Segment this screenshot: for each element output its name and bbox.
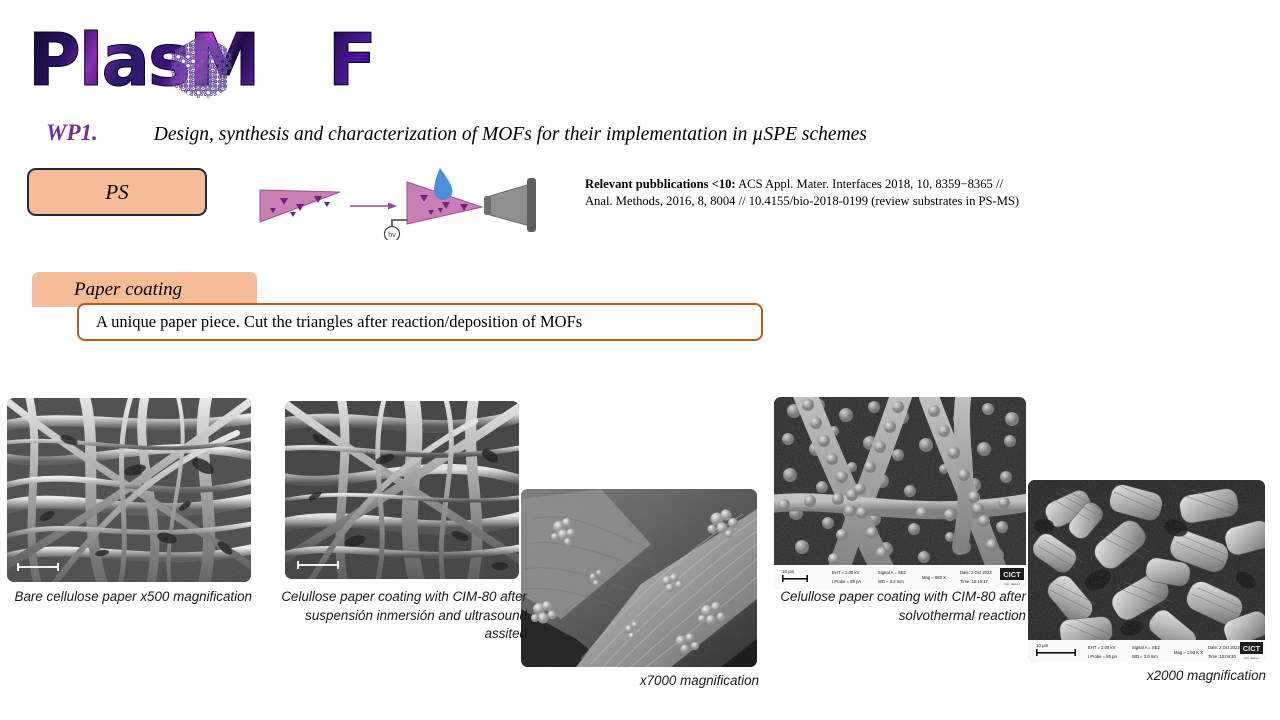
svg-text:Univ. Jaume I: Univ. Jaume I bbox=[1244, 656, 1260, 660]
logo-text-after: F bbox=[328, 18, 375, 102]
sem-caption-3: x7000 magnification bbox=[520, 672, 759, 691]
paper-spray-ionization-diagram: hv bbox=[252, 160, 552, 240]
solvent-droplet-icon bbox=[434, 168, 452, 200]
publications-line-2: Anal. Methods, 2016, 8, 8004 // 10.4155/… bbox=[585, 194, 1019, 208]
sem-caption-2: Celullose paper coating with CIM-80 afte… bbox=[265, 588, 527, 644]
page-title: Design, synthesis and characterization o… bbox=[154, 124, 867, 145]
svg-text:EHT = 2.00 kV: EHT = 2.00 kV bbox=[1088, 645, 1115, 650]
high-voltage-source: hv bbox=[385, 220, 409, 240]
relevant-publications: Relevant pubblications <10: ACS Appl. Ma… bbox=[585, 176, 1155, 210]
ps-section-badge: PS bbox=[27, 168, 207, 216]
paper-triangle-left bbox=[260, 190, 340, 222]
svg-text:WD = 3.9 mm: WD = 3.9 mm bbox=[1132, 654, 1158, 659]
svg-text:CICT: CICT bbox=[1243, 644, 1261, 653]
svg-text:Date: 2 Oct 2023: Date: 2 Oct 2023 bbox=[1208, 645, 1240, 650]
svg-text:hv: hv bbox=[388, 232, 396, 239]
svg-text:WD = 3.2 mm: WD = 3.2 mm bbox=[878, 579, 904, 584]
svg-text:EHT = 2.00 kV: EHT = 2.00 kV bbox=[832, 570, 859, 575]
paper-coating-tab-label: Paper coating bbox=[74, 279, 182, 301]
sem-caption-1: Bare cellulose paper x500 magnification bbox=[12, 588, 252, 607]
publications-heading: Relevant pubblications <10: bbox=[585, 177, 736, 191]
svg-text:I Probe = 85 pA: I Probe = 85 pA bbox=[1088, 654, 1117, 659]
paper-coating-text: A unique paper piece. Cut the triangles … bbox=[96, 312, 582, 332]
sem-x2000-crystals: 10 µm EHT = 2.00 kV I Probe = 85 pA Sign… bbox=[1028, 480, 1265, 662]
mass-spectrometer-inlet bbox=[484, 178, 536, 232]
ps-badge-label: PS bbox=[105, 180, 128, 205]
paper-triangle-spray bbox=[407, 168, 482, 224]
process-arrow bbox=[350, 203, 397, 210]
svg-text:10 µm: 10 µm bbox=[1036, 643, 1049, 648]
publications-line-1: ACS Appl. Mater. Interfaces 2018, 10, 83… bbox=[736, 177, 1003, 191]
plasmof-logo: PlasM F bbox=[28, 14, 328, 106]
svg-text:Signal A = SE2: Signal A = SE2 bbox=[878, 570, 906, 575]
paper-coating-callout: A unique paper piece. Cut the triangles … bbox=[77, 303, 763, 341]
wp-label: WP1. bbox=[46, 120, 98, 145]
svg-text:CICT: CICT bbox=[1003, 570, 1021, 579]
svg-text:Mag = 1.93 K X: Mag = 1.93 K X bbox=[1174, 650, 1203, 655]
sem-x7000-fiber bbox=[521, 489, 757, 667]
sem-caption-5: x2000 magnification bbox=[1020, 667, 1266, 686]
work-package-header: WP1. Design, synthesis and characterizat… bbox=[46, 120, 1146, 150]
sem-databar: 10 µm EHT = 2.00 kV I Probe = 85 pA Sign… bbox=[774, 565, 1026, 589]
sem-caption-4: Celullose paper coating with CIM-80 afte… bbox=[760, 588, 1026, 625]
svg-text:Time :10:04:30: Time :10:04:30 bbox=[1208, 654, 1236, 659]
sem-cim80-solvothermal: 10 µm EHT = 2.00 kV I Probe = 85 pA Sign… bbox=[774, 397, 1026, 589]
mof-framework-icon bbox=[165, 32, 241, 104]
svg-text:10 µm: 10 µm bbox=[782, 569, 795, 574]
sem-databar: 10 µm EHT = 2.00 kV I Probe = 85 pA Sign… bbox=[1028, 640, 1265, 662]
sem-bare-cellulose bbox=[7, 398, 251, 582]
sem-cim80-suspension bbox=[285, 401, 519, 579]
svg-text:Time :10:19:17: Time :10:19:17 bbox=[960, 579, 988, 584]
svg-text:Signal A = SE2: Signal A = SE2 bbox=[1132, 645, 1160, 650]
svg-text:Date: 2 Oct 2023: Date: 2 Oct 2023 bbox=[960, 570, 992, 575]
svg-text:Univ. Jaume I: Univ. Jaume I bbox=[1004, 582, 1020, 586]
paper-coating-tab: Paper coating bbox=[32, 272, 257, 307]
svg-text:Mag = 683 X: Mag = 683 X bbox=[922, 575, 946, 580]
svg-text:I Probe = 85 pA: I Probe = 85 pA bbox=[832, 579, 861, 584]
